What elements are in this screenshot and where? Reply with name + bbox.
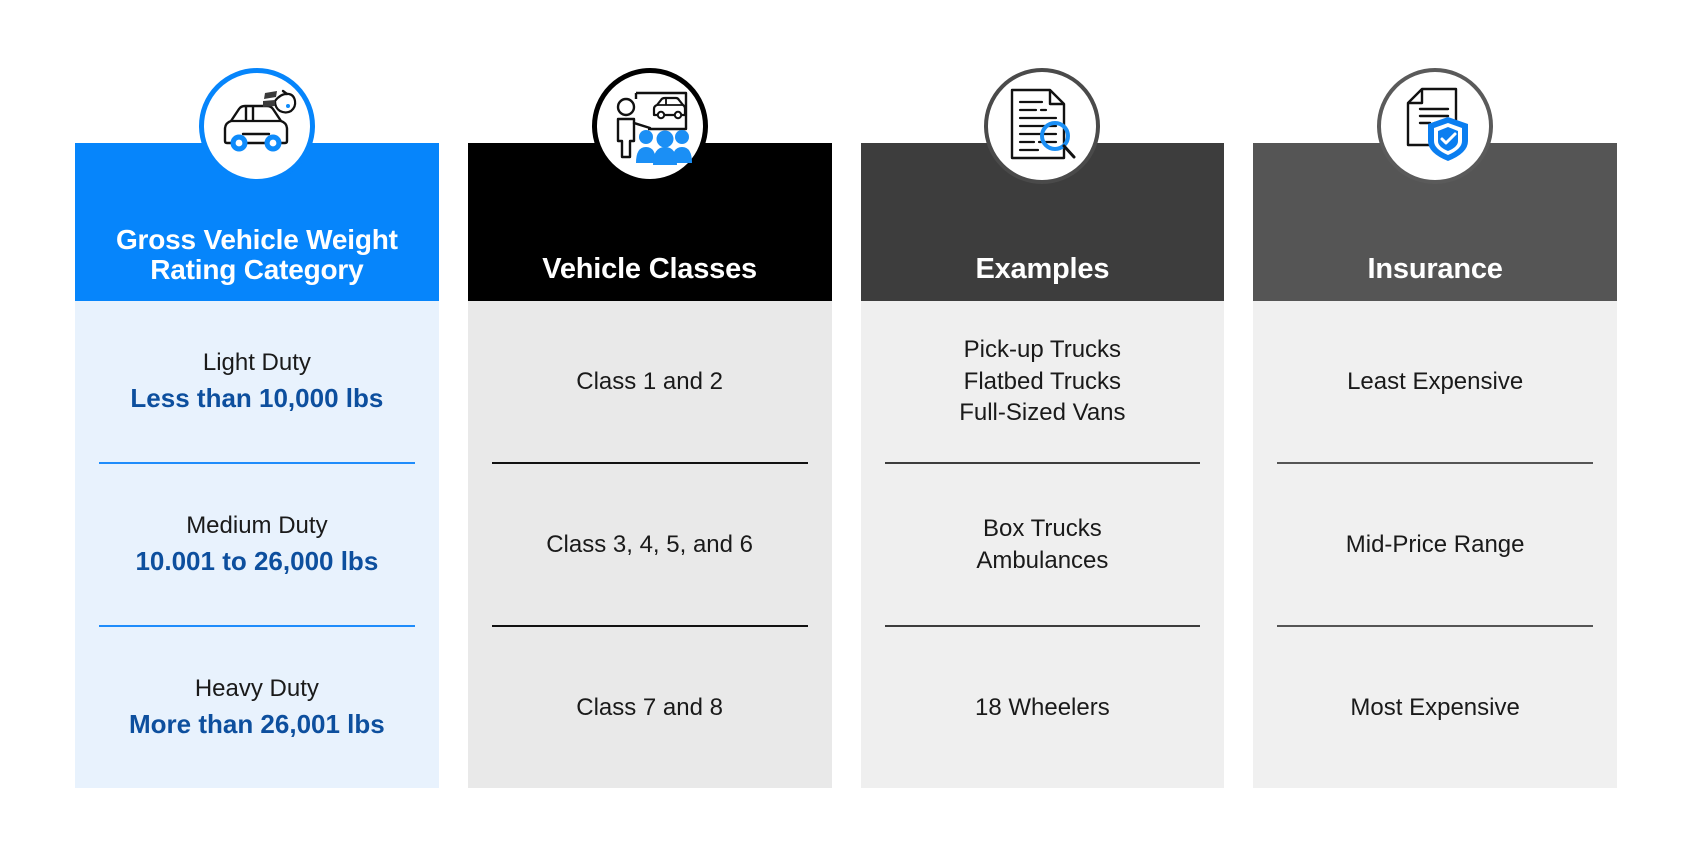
van-weight-scale-icon xyxy=(199,68,315,184)
column-title: Insurance xyxy=(1358,254,1513,285)
column-title: Gross Vehicle Weight Rating Category xyxy=(106,225,408,285)
row-value: More than 26,001 lbs xyxy=(129,707,385,742)
table-row: Most Expensive xyxy=(1277,625,1593,788)
row-value: 10.001 to 26,000 lbs xyxy=(135,544,378,579)
row-value: Less than 10,000 lbs xyxy=(130,381,383,416)
row-label: Class 7 and 8 xyxy=(576,692,723,724)
column-header-insurance: Insurance xyxy=(1253,143,1617,301)
table-row: Box Trucks Ambulances xyxy=(885,462,1201,625)
row-label: Class 1 and 2 xyxy=(576,366,723,398)
comparison-columns: Gross Vehicle Weight Rating Category Lig… xyxy=(75,143,1617,788)
column-vehicle-classes: Vehicle Classes Class 1 and 2 Class 3, 4… xyxy=(468,143,832,788)
column-header-examples: Examples xyxy=(861,143,1225,301)
table-row: Pick-up Trucks Flatbed Trucks Full-Sized… xyxy=(885,301,1201,462)
column-body-insurance: Least Expensive Mid-Price Range Most Exp… xyxy=(1253,301,1617,788)
table-row: Light Duty Less than 10,000 lbs xyxy=(99,301,415,462)
column-title: Vehicle Classes xyxy=(532,254,767,285)
table-row: Least Expensive xyxy=(1277,301,1593,462)
row-label: Class 3, 4, 5, and 6 xyxy=(546,529,753,561)
table-row: Heavy Duty More than 26,001 lbs xyxy=(99,625,415,788)
row-label: Mid-Price Range xyxy=(1346,529,1525,561)
table-row: 18 Wheelers xyxy=(885,625,1201,788)
row-label: Most Expensive xyxy=(1350,692,1519,724)
column-header-vehicle-classes: Vehicle Classes xyxy=(468,143,832,301)
column-gvwr-category: Gross Vehicle Weight Rating Category Lig… xyxy=(75,143,439,788)
column-title: Examples xyxy=(965,254,1119,285)
column-header-gvwr-category: Gross Vehicle Weight Rating Category xyxy=(75,143,439,301)
table-row: Class 3, 4, 5, and 6 xyxy=(492,462,808,625)
table-row: Class 7 and 8 xyxy=(492,625,808,788)
column-examples: Examples Pick-up Trucks Flatbed Trucks F… xyxy=(861,143,1225,788)
row-label: Box Trucks Ambulances xyxy=(976,513,1108,576)
row-label: Light Duty xyxy=(203,347,311,379)
column-body-examples: Pick-up Trucks Flatbed Trucks Full-Sized… xyxy=(861,301,1225,788)
document-shield-check-icon xyxy=(1377,68,1493,184)
column-body-gvwr-category: Light Duty Less than 10,000 lbs Medium D… xyxy=(75,301,439,788)
presenter-whiteboard-audience-icon xyxy=(592,68,708,184)
table-row: Mid-Price Range xyxy=(1277,462,1593,625)
row-label: Pick-up Trucks Flatbed Trucks Full-Sized… xyxy=(959,334,1125,429)
row-label: Heavy Duty xyxy=(195,673,319,705)
table-row: Medium Duty 10.001 to 26,000 lbs xyxy=(99,462,415,625)
row-label: Least Expensive xyxy=(1347,366,1523,398)
table-row: Class 1 and 2 xyxy=(492,301,808,462)
row-label: Medium Duty xyxy=(186,510,327,542)
document-magnifier-icon xyxy=(984,68,1100,184)
row-label: 18 Wheelers xyxy=(975,692,1110,724)
column-body-vehicle-classes: Class 1 and 2 Class 3, 4, 5, and 6 Class… xyxy=(468,301,832,788)
column-insurance: Insurance Least Expensive Mid-Price Rang… xyxy=(1253,143,1617,788)
gvwr-comparison-infographic: Gross Vehicle Weight Rating Category Lig… xyxy=(0,0,1689,857)
